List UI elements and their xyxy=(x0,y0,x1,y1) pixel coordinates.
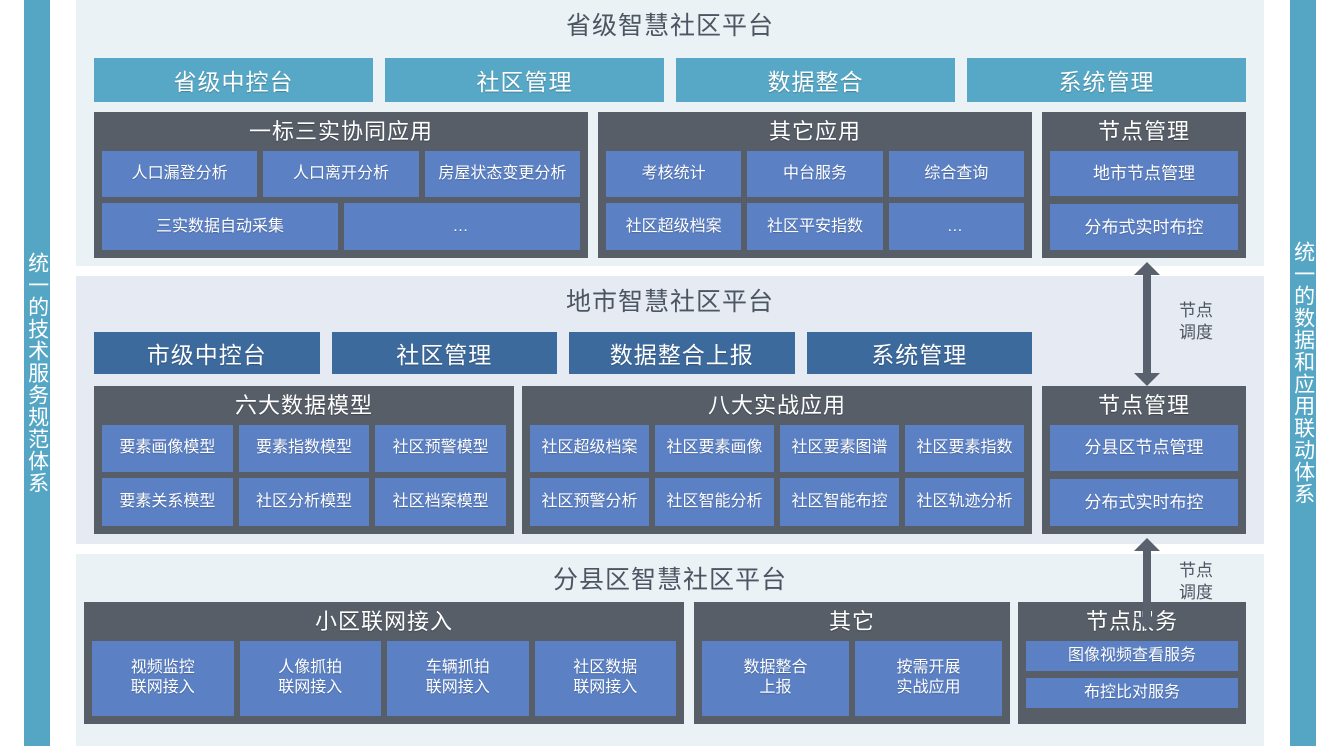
group-node-management-provincial: 节点管理 地市节点管理 分布式实时布控 xyxy=(1042,112,1246,258)
architecture-diagram: 统一的技术服务规范体系 统一的数据和应用联动体系 省级智慧社区平台 省级中控台 … xyxy=(0,0,1340,746)
cell-more-provincial-2[interactable]: … xyxy=(889,203,1024,250)
cell-community-super-archive[interactable]: 社区超级档案 xyxy=(530,425,649,473)
provincial-platform-panel: 省级智慧社区平台 省级中控台 社区管理 数据整合 系统管理 一标三实协同应用 人… xyxy=(76,0,1264,266)
tab-provincial-system-management[interactable]: 系统管理 xyxy=(967,58,1246,102)
cell-community-element-portrait[interactable]: 社区要素画像 xyxy=(655,425,774,473)
cell-distributed-realtime-control-prov[interactable]: 分布式实时布控 xyxy=(1050,204,1238,250)
node-dispatch-label-bottom: 节点 调度 xyxy=(1168,560,1224,604)
cell-sanshi-auto-collection[interactable]: 三实数据自动采集 xyxy=(102,203,338,250)
cell-midplatform-service[interactable]: 中台服务 xyxy=(747,151,882,198)
cell-vehicle-capture-access[interactable]: 车辆抓拍 联网接入 xyxy=(387,641,529,717)
cell-on-demand-practical-apps[interactable]: 按需开展 实战应用 xyxy=(855,641,1002,717)
tab-municipal-data-integration-report[interactable]: 数据整合上报 xyxy=(569,332,795,374)
group-yibiao-sanshi-apps: 一标三实协同应用 人口漏登分析 人口离开分析 房屋状态变更分析 三实数据自动采集… xyxy=(94,112,588,258)
district-platform-title: 分县区智慧社区平台 xyxy=(76,560,1264,596)
cell-control-comparison-service[interactable]: 布控比对服务 xyxy=(1026,678,1238,708)
municipal-platform-panel: 地市智慧社区平台 市级中控台 社区管理 数据整合上报 系统管理 六大数据模型 要… xyxy=(76,276,1264,544)
cell-district-node-management[interactable]: 分县区节点管理 xyxy=(1050,425,1238,472)
arrow-shaft xyxy=(1143,274,1151,374)
group-node-management-municipal: 节点管理 分县区节点管理 分布式实时布控 xyxy=(1042,386,1246,534)
district-platform-panel: 分县区智慧社区平台 小区联网接入 视频监控 联网接入 人像抓拍 联网接入 车辆抓… xyxy=(76,554,1264,746)
group-title: 一标三实协同应用 xyxy=(102,116,580,151)
cell-community-smart-analysis[interactable]: 社区智能分析 xyxy=(655,478,774,526)
group-title: 节点管理 xyxy=(1050,390,1238,425)
right-rail-label: 统一的数据和应用联动体系 xyxy=(1290,0,1316,746)
arrow-head-down-icon xyxy=(1134,373,1160,386)
provincial-tab-row: 省级中控台 社区管理 数据整合 系统管理 xyxy=(94,58,1246,102)
municipal-platform-title: 地市智慧社区平台 xyxy=(76,282,1264,318)
cell-video-surveillance-access[interactable]: 视频监控 联网接入 xyxy=(92,641,234,717)
cell-city-node-management[interactable]: 地市节点管理 xyxy=(1050,151,1238,197)
cell-face-capture-access[interactable]: 人像抓拍 联网接入 xyxy=(240,641,382,717)
cell-community-element-graph[interactable]: 社区要素图谱 xyxy=(780,425,899,473)
group-title: 八大实战应用 xyxy=(530,390,1024,425)
node-dispatch-arrow-top xyxy=(1134,262,1160,386)
cell-community-safety-index[interactable]: 社区平安指数 xyxy=(747,203,882,250)
group-eight-practical-apps: 八大实战应用 社区超级档案 社区要素画像 社区要素图谱 社区要素指数 社区预警分… xyxy=(522,386,1032,534)
cell-element-relation-model[interactable]: 要素关系模型 xyxy=(102,478,233,526)
municipal-tab-row: 市级中控台 社区管理 数据整合上报 系统管理 xyxy=(94,332,1032,374)
provincial-platform-title: 省级智慧社区平台 xyxy=(76,6,1264,42)
cell-population-departure-analysis[interactable]: 人口离开分析 xyxy=(263,151,418,198)
cell-image-video-view-service[interactable]: 图像视频查看服务 xyxy=(1026,641,1238,671)
group-title: 小区联网接入 xyxy=(92,606,676,641)
tab-municipal-community-management[interactable]: 社区管理 xyxy=(332,332,558,374)
group-title: 节点服务 xyxy=(1026,606,1238,641)
arrow-shaft xyxy=(1143,550,1151,618)
cell-community-warning-model[interactable]: 社区预警模型 xyxy=(375,425,506,473)
cell-assessment-statistics[interactable]: 考核统计 xyxy=(606,151,741,198)
cell-community-trajectory-analysis[interactable]: 社区轨迹分析 xyxy=(905,478,1024,526)
cell-community-super-archive-prov[interactable]: 社区超级档案 xyxy=(606,203,741,250)
cell-house-status-change-analysis[interactable]: 房屋状态变更分析 xyxy=(425,151,580,198)
group-other-apps: 其它应用 考核统计 中台服务 综合查询 社区超级档案 社区平安指数 … xyxy=(598,112,1032,258)
group-title: 其它 xyxy=(702,606,1002,641)
group-six-data-models: 六大数据模型 要素画像模型 要素指数模型 社区预警模型 要素关系模型 社区分析模… xyxy=(94,386,514,534)
group-other-district: 其它 数据整合 上报 按需开展 实战应用 xyxy=(694,602,1010,724)
group-title: 节点管理 xyxy=(1050,116,1238,151)
arrow-head-down-icon xyxy=(1134,617,1160,630)
left-rail-label: 统一的技术服务规范体系 xyxy=(24,0,50,746)
group-community-network-access: 小区联网接入 视频监控 联网接入 人像抓拍 联网接入 车辆抓拍 联网接入 社区数… xyxy=(84,602,684,724)
cell-element-index-model[interactable]: 要素指数模型 xyxy=(239,425,370,473)
group-title: 六大数据模型 xyxy=(102,390,506,425)
tab-provincial-control-center[interactable]: 省级中控台 xyxy=(94,58,373,102)
cell-community-analysis-model[interactable]: 社区分析模型 xyxy=(239,478,370,526)
node-dispatch-arrow-bottom xyxy=(1134,538,1160,630)
cell-data-integration-report[interactable]: 数据整合 上报 xyxy=(702,641,849,717)
cell-comprehensive-query[interactable]: 综合查询 xyxy=(889,151,1024,198)
cell-community-archive-model[interactable]: 社区档案模型 xyxy=(375,478,506,526)
tab-municipal-system-management[interactable]: 系统管理 xyxy=(807,332,1033,374)
cell-element-portrait-model[interactable]: 要素画像模型 xyxy=(102,425,233,473)
tab-provincial-data-integration[interactable]: 数据整合 xyxy=(676,58,955,102)
cell-community-warning-analysis[interactable]: 社区预警分析 xyxy=(530,478,649,526)
group-node-service: 节点服务 图像视频查看服务 布控比对服务 xyxy=(1018,602,1246,724)
cell-community-data-access[interactable]: 社区数据 联网接入 xyxy=(535,641,677,717)
tab-municipal-control-center[interactable]: 市级中控台 xyxy=(94,332,320,374)
cell-distributed-realtime-control-muni[interactable]: 分布式实时布控 xyxy=(1050,479,1238,526)
node-dispatch-label-top: 节点 调度 xyxy=(1168,300,1224,344)
cell-more-provincial-1[interactable]: … xyxy=(344,203,580,250)
cell-population-missing-registration[interactable]: 人口漏登分析 xyxy=(102,151,257,198)
cell-community-smart-control[interactable]: 社区智能布控 xyxy=(780,478,899,526)
group-title: 其它应用 xyxy=(606,116,1024,151)
cell-community-element-index[interactable]: 社区要素指数 xyxy=(905,425,1024,473)
tab-provincial-community-management[interactable]: 社区管理 xyxy=(385,58,664,102)
